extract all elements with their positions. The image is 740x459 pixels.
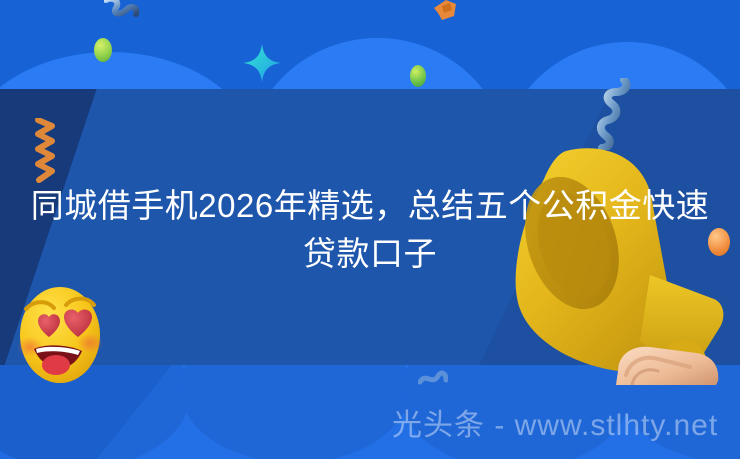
watermark-text: 光头条 - www.stlhty.net xyxy=(392,406,736,446)
promo-banner: 同城借手机2026年精选，总结五个公积金快速贷款口子 光头条 - www.stl… xyxy=(0,0,740,459)
dot-icon xyxy=(94,38,112,62)
wave-hill xyxy=(0,52,260,89)
zigzag-ribbon-icon xyxy=(32,118,60,186)
heart-eyes-emoji xyxy=(14,285,106,385)
wave-hill xyxy=(245,38,510,89)
confetti-icon xyxy=(432,0,458,22)
spiral-ribbon-icon xyxy=(104,0,140,30)
spiral-ribbon-icon xyxy=(418,368,448,390)
sparkle-icon xyxy=(243,44,281,82)
dot-icon xyxy=(410,65,426,87)
page-title: 同城借手机2026年精选，总结五个公积金快速贷款口子 xyxy=(0,182,740,278)
